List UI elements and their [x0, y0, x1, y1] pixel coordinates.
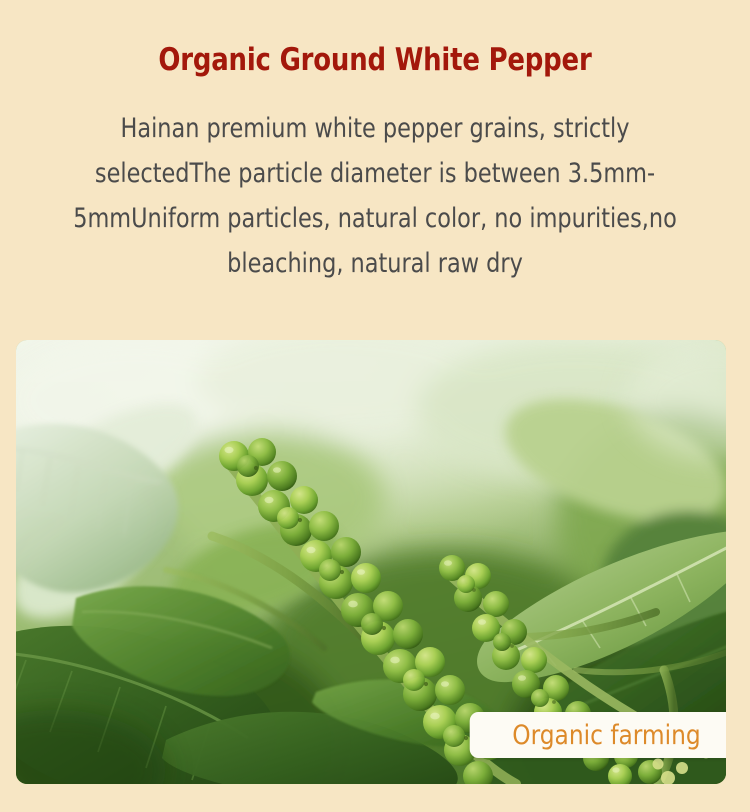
badge-organic-farming-label: Organic farming — [512, 720, 700, 751]
product-detail-page: Organic Ground White Pepper Hainan premi… — [0, 0, 750, 812]
page-title: Organic Ground White Pepper — [26, 42, 724, 78]
badge-organic-farming: Organic farming — [470, 712, 726, 758]
hero-image: Organic farming Farm direct supply — [16, 340, 726, 784]
product-description: Hainan premium white pepper grains, stri… — [49, 106, 701, 286]
